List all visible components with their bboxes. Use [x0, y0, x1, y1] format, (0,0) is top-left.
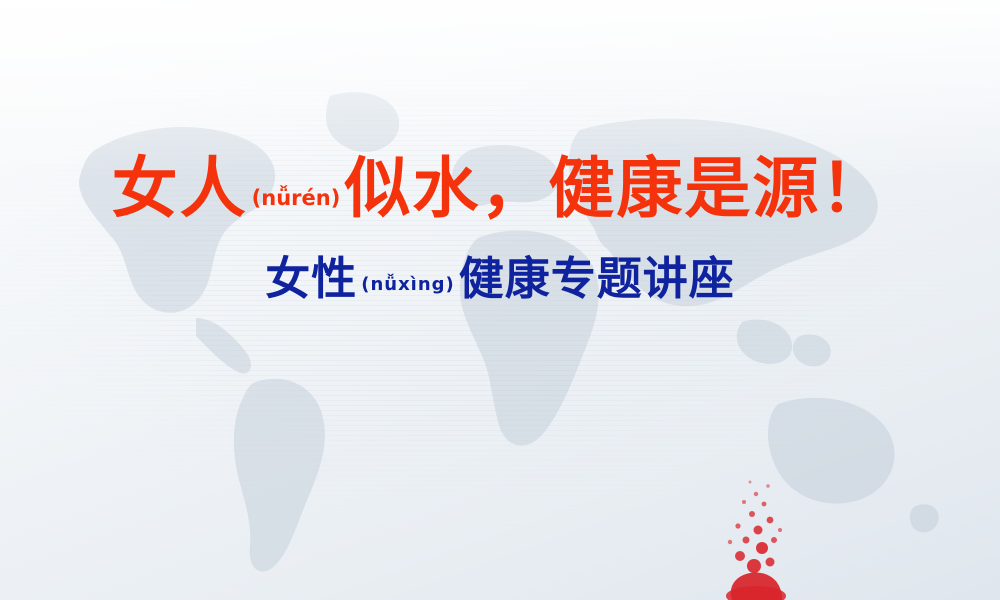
subtitle-text-after: 健康专题讲座 [459, 252, 735, 305]
title-text-before: 女人 [112, 150, 248, 227]
title-pinyin: (nǚrén) [248, 186, 345, 210]
presentation-slide: 女人(nǚrén)似水，健康是源！ 女性(nǚxìng)健康专题讲座 [0, 0, 1000, 600]
slide-text-block: 女人(nǚrén)似水，健康是源！ 女性(nǚxìng)健康专题讲座 [0, 150, 1000, 313]
subtitle-pinyin: (nǚxìng) [357, 274, 459, 295]
slide-title: 女人(nǚrén)似水，健康是源！ [0, 150, 1000, 237]
title-text-after: 似水，健康是源！ [344, 150, 888, 227]
red-droplets-splash-icon [670, 470, 860, 600]
slide-subtitle: 女性(nǚxìng)健康专题讲座 [0, 251, 1000, 313]
subtitle-text-before: 女性 [265, 252, 357, 305]
